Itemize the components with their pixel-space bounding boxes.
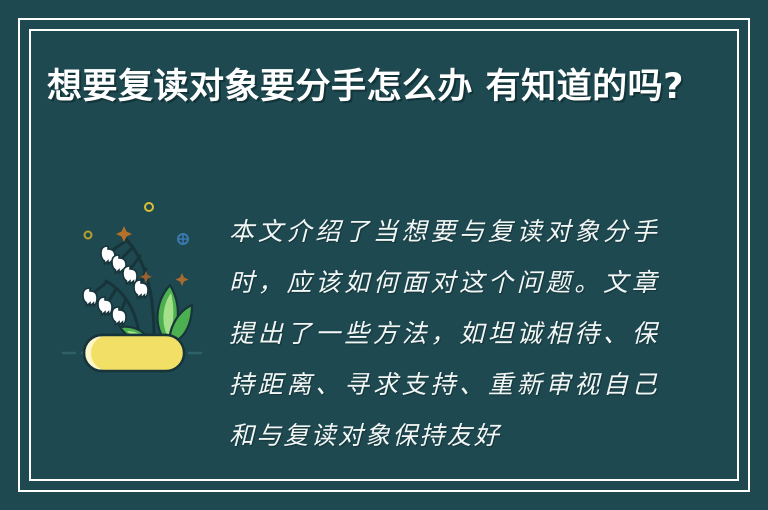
page-title: 想要复读对象要分手怎么办 有知道的吗? [47,62,687,112]
poster-canvas: 想要复读对象要分手怎么办 有知道的吗? [0,0,768,510]
flower-pot-icon [84,335,184,371]
flower-bells-lower-icon [83,288,126,325]
article-summary-text: 本文介绍了当想要与复读对象分手时，应该如何面对这个问题。文章提出了一些方法，如坦… [229,206,659,461]
illustration-lily-of-the-valley [58,193,223,373]
